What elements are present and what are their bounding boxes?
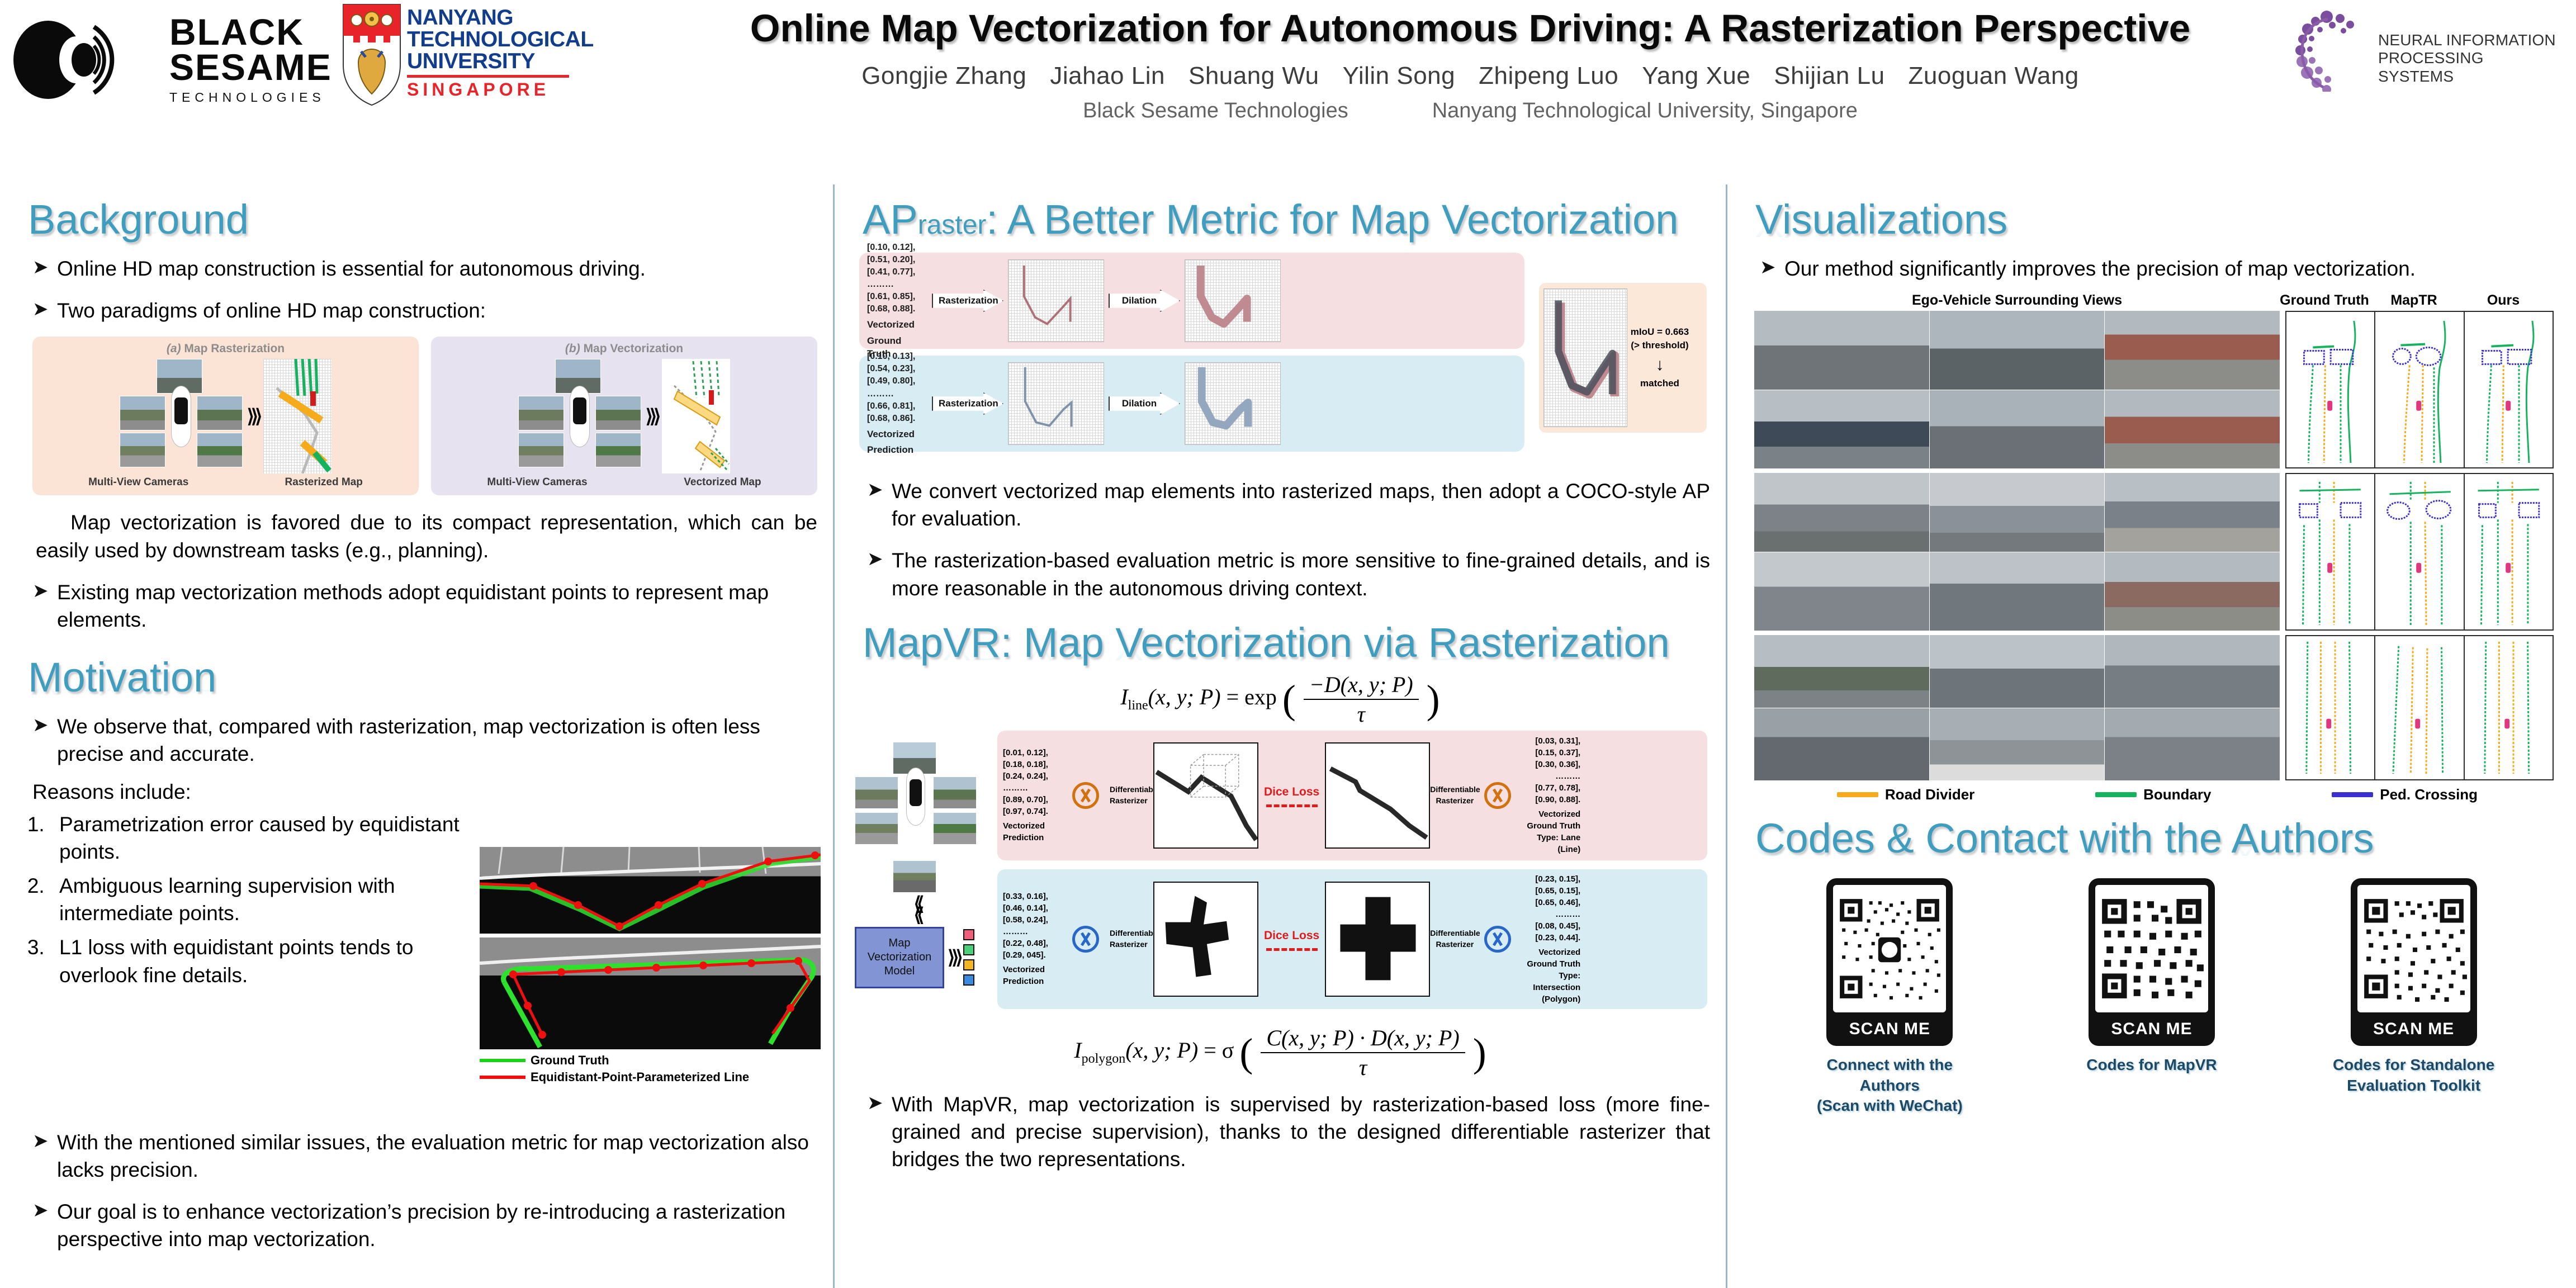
rasterizer-icon <box>1484 782 1511 809</box>
coord-line: [0.68, 0.86]. <box>867 413 927 425</box>
surrounding-views-grid <box>1754 473 2280 631</box>
arrow-bullet-icon: ➤ <box>32 1198 57 1253</box>
formula-line-lhs: I <box>1120 684 1128 709</box>
visualization-row <box>1754 635 2560 780</box>
qr-code-image[interactable] <box>1833 885 1946 1012</box>
poster-header: BLACK SESAME TECHNOLOGIES NANYANG TECHNO… <box>0 0 2576 168</box>
bsm-subtitle: TECHNOLOGIES <box>169 90 332 105</box>
chip-yellow <box>963 959 974 970</box>
ego-vehicle-icon <box>570 386 590 447</box>
neurips-wordmark: NEURAL INFORMATION PROCESSING SYSTEMS <box>2378 31 2561 86</box>
dilation-arrow-1: Dilation <box>1109 290 1180 312</box>
rasterization-arrow-1: Rasterization <box>932 290 1003 312</box>
gt-label-2: Ground Truth <box>1522 958 1580 970</box>
section-title-ap-raster: APraster: A Better Metric for Map Vector… <box>863 199 1710 240</box>
camera-thumb <box>197 396 243 430</box>
bullet-text: Two paradigms of online HD map construct… <box>57 297 817 324</box>
rasterizer-icon <box>1072 926 1099 953</box>
dice-loss-arrow <box>1266 948 1318 951</box>
camera-thumb-bottom <box>893 860 936 893</box>
neurips-logo: NEURAL INFORMATION PROCESSING SYSTEMS <box>2293 6 2561 95</box>
chip-blue <box>963 974 974 986</box>
author: Shijian Lu <box>1774 62 1884 89</box>
threshold-note: (> threshold) <box>1627 339 1692 353</box>
qr-code-image[interactable] <box>2095 885 2208 1012</box>
black-sesame-logo: BLACK SESAME TECHNOLOGIES <box>10 4 323 111</box>
down-arrow-icon: ↓ <box>1627 357 1692 372</box>
camera-view <box>1754 311 1929 390</box>
column-middle: APraster: A Better Metric for Map Vector… <box>833 184 1727 1288</box>
coord-line: [0.23, 0.44]. <box>1522 932 1580 944</box>
ntu-wordmark: NANYANG TECHNOLOGICAL UNIVERSITY SINGAPO… <box>407 7 594 100</box>
section-title-codes-contact: Codes & Contact with the Authors <box>1755 818 2560 859</box>
formula-poly-eq: = σ <box>1204 1038 1234 1063</box>
differentiable-rasterizer-right <box>1477 780 1518 811</box>
camera-view <box>1930 552 2105 631</box>
coord-line: [0.15, 0.37], <box>1522 747 1580 759</box>
matched-label: matched <box>1627 377 1692 391</box>
line-gt-render <box>1325 742 1430 849</box>
camera-view <box>2105 473 2280 552</box>
motivation-figure: Ground Truth Equidistant-Point-Parameter… <box>480 847 821 1085</box>
rasterization-arrow-2: Rasterization <box>932 392 1003 415</box>
camera-thumb <box>933 776 977 809</box>
coord-line: [0.46, 0.14], <box>1003 902 1062 914</box>
map-maptr <box>2375 474 2464 629</box>
qr-caption-line2: Evaluation Toolkit <box>2324 1076 2503 1096</box>
arrow-bullet-icon: ➤ <box>32 1129 57 1183</box>
paradigm-b-caption: (b) Map Vectorization <box>439 342 809 356</box>
column-left: Background ➤ Online HD map construction … <box>0 184 833 1288</box>
legend-item-road-divider: Road Divider <box>1837 786 1974 803</box>
pred-label-line1: Vectorized <box>867 428 927 441</box>
motivation-image-1 <box>480 847 821 934</box>
multiview-camera-cluster <box>120 359 243 473</box>
ap-gt-panel: [0.10, 0.12], [0.51, 0.20], [0.41, 0.77]… <box>859 253 1524 349</box>
mapvr-bullet-1: ➤ With MapVR, map vectorization is super… <box>867 1091 1710 1173</box>
ntu-line-2: TECHNOLOGICAL <box>407 29 594 50</box>
fraction-denominator: τ <box>1261 1053 1465 1081</box>
overlap-tile <box>1543 288 1627 427</box>
arrow-bullet-icon: ➤ <box>32 713 57 768</box>
arrow-bullet-icon: ➤ <box>867 477 892 532</box>
legend-label: Ped. Crossing <box>2380 786 2478 803</box>
map-maptr <box>2375 312 2464 467</box>
author: Yilin Song <box>1343 62 1456 89</box>
camera-view <box>1754 552 1929 631</box>
dice-loss-left: Dice Loss <box>1264 784 1319 807</box>
background-bullet-3: ➤ Existing map vectorization methods ado… <box>32 579 817 633</box>
affiliation-list: Black Sesame TechnologiesNanyang Technol… <box>660 99 2281 123</box>
qr-card[interactable]: SCAN ME <box>2089 878 2215 1046</box>
poster-body: Background ➤ Online HD map construction … <box>0 184 2576 1288</box>
mapvr-figure: ⟪⟪ Map Vectorization Model ⟩⟩⟩ [0.01, 0.… <box>855 731 1710 1021</box>
rasterizer-label-left-poly: Differentiable Rasterizer <box>1110 928 1153 950</box>
chip-pink <box>963 929 974 940</box>
paradigm-b-title: Map Vectorization <box>584 342 684 355</box>
map-ours <box>2465 636 2553 779</box>
legend-item-boundary: Boundary <box>2095 786 2211 803</box>
dice-loss-arrow <box>1266 804 1318 807</box>
arrow-bullet-icon: ➤ <box>32 297 57 324</box>
reasons-list: Parametrization error caused by equidist… <box>50 811 492 989</box>
coord-line: [0.24, 0.24], <box>1003 770 1062 782</box>
camera-view <box>1754 390 1929 469</box>
neurips-line-1: NEURAL INFORMATION <box>2378 31 2561 49</box>
poly-pred-coords: [0.33, 0.16], [0.46, 0.14], [0.58, 0.24]… <box>1003 891 1062 987</box>
map-comparison-row <box>2285 311 2554 468</box>
rasterizer-label-right: Differentiable Rasterizer <box>1430 784 1474 806</box>
qr-card[interactable]: SCAN ME <box>2351 878 2477 1046</box>
differentiable-rasterizer-right-poly <box>1477 924 1518 955</box>
paradigm-figure: (a) Map Rasterization ⟩⟩⟩ <box>32 337 817 495</box>
mapvr-line-panel: [0.01, 0.12], [0.18, 0.18], [0.24, 0.24]… <box>997 731 1707 860</box>
author-list: Gongjie ZhangJiahao LinShuang WuYilin So… <box>660 62 2281 90</box>
paren-close: ) <box>1427 677 1440 722</box>
bullet-text: Existing map vectorization methods adopt… <box>57 579 817 633</box>
camera-view <box>2105 635 2280 708</box>
neurips-line-2: PROCESSING SYSTEMS <box>2378 49 2561 86</box>
gt-coordinates: [0.10, 0.12], [0.51, 0.20], [0.41, 0.77]… <box>867 241 927 361</box>
pred-label-2: Prediction <box>1003 832 1062 844</box>
paradigm-a-label: (a) <box>167 342 181 355</box>
coord-line: [0.51, 0.20], <box>867 254 927 266</box>
camera-view <box>1754 708 1929 781</box>
gt-rasterized-tile <box>1008 259 1104 342</box>
vectorized-map-thumb <box>662 359 730 473</box>
fraction-numerator: −D(x, y; P) <box>1304 671 1419 700</box>
bullet-text: Our method significantly improves the pr… <box>1784 255 2560 282</box>
map-ours <box>2465 474 2553 629</box>
bullet-text: We convert vectorized map elements into … <box>892 477 1710 532</box>
list-item: L1 loss with equidistant points tends to… <box>50 934 492 988</box>
coord-line: [0.23, 0.15], <box>1522 873 1580 885</box>
paren-open: ( <box>1239 1030 1253 1075</box>
miou-value: mIoU = 0.663 <box>1627 325 1692 339</box>
header-ground-truth: Ground Truth <box>2280 292 2369 309</box>
camera-view <box>1754 635 1929 708</box>
coord-line: [0.89, 0.70], <box>1003 794 1062 806</box>
list-item: Parametrization error caused by equidist… <box>50 811 492 865</box>
dice-loss-poly: Dice Loss <box>1264 927 1319 951</box>
line-gt-coords: [0.03, 0.31], [0.15, 0.37], [0.30, 0.36]… <box>1522 735 1580 855</box>
coord-line: [0.01, 0.12], <box>1003 747 1062 759</box>
bullet-text: With MapVR, map vectorization is supervi… <box>892 1091 1710 1173</box>
bsm-line-1: BLACK <box>169 15 332 50</box>
legend-swatch-ground-truth <box>480 1059 525 1062</box>
coord-line: [0.08, 0.45], <box>1522 920 1580 932</box>
coord-line: [0.65, 0.15], <box>1522 885 1580 897</box>
legend-label: Boundary <box>2143 786 2211 803</box>
mapvr-polygon-panel: [0.33, 0.16], [0.46, 0.14], [0.58, 0.24]… <box>997 869 1707 1009</box>
camera-thumb <box>595 396 641 430</box>
chevron-right-icon: ⟩⟩⟩ <box>646 405 658 428</box>
coord-line: [0.22, 0.48], <box>1003 937 1062 949</box>
camera-thumb <box>197 433 243 467</box>
formula-poly-fraction: C(x, y; P) · D(x, y; P) τ <box>1261 1025 1465 1081</box>
motivation-bullet-3: ➤ Our goal is to enhance vectorization’s… <box>32 1198 817 1253</box>
formula-line-eq: = exp <box>1227 684 1277 709</box>
gt-label-1: Vectorized <box>1522 808 1580 820</box>
camera-thumb <box>595 433 641 467</box>
type-line: Type: Lane (Line) <box>1522 832 1580 855</box>
ap-pred-panel: [0.10, 0.13], [0.54, 0.23], [0.49, 0.80]… <box>859 356 1524 452</box>
camera-view <box>2105 311 2280 390</box>
paradigm-b-labels: Multi-View Cameras Vectorized Map <box>439 476 809 489</box>
title-block: Online Map Vectorization for Autonomous … <box>660 8 2281 123</box>
scan-me-label: SCAN ME <box>1833 1012 1946 1046</box>
coord-line: [0.61, 0.85], <box>867 291 927 303</box>
camera-view <box>1930 390 2105 469</box>
motivation-bullet-2: ➤ With the mentioned similar issues, the… <box>32 1129 817 1183</box>
background-bullet-2: ➤ Two paradigms of online HD map constru… <box>32 297 817 324</box>
coord-line: [0.77, 0.78], <box>1522 782 1580 794</box>
rasterizer-icon <box>1072 782 1099 809</box>
bullet-text: The rasterization-based evaluation metri… <box>892 547 1710 602</box>
qr-caption: Codes for Standalone Evaluation Toolkit <box>2324 1055 2503 1096</box>
cams-label: Multi-View Cameras <box>88 476 188 489</box>
class-color-chips <box>963 929 974 986</box>
differentiable-rasterizer-left <box>1065 780 1106 811</box>
type-polygon: Type: Intersection (Polygon) <box>1522 970 1580 1005</box>
dice-loss-label: Dice Loss <box>1264 785 1319 798</box>
qr-item-eval-toolkit[interactable]: SCAN ME Codes for Standalone Evaluation … <box>2324 878 2503 1116</box>
qr-caption-line1: Connect with the Authors <box>1800 1055 1979 1096</box>
black-sesame-mark-icon <box>10 18 161 102</box>
coord-line: [0.58, 0.24], <box>1003 914 1062 926</box>
out-label: Rasterized Map <box>285 476 363 489</box>
pred-label-line2: Prediction <box>867 443 927 456</box>
camera-view <box>2105 552 2280 631</box>
camera-thumb <box>855 776 898 809</box>
formula-line-fraction: −D(x, y; P) τ <box>1304 671 1419 727</box>
coord-line: [0.68, 0.88]. <box>867 303 927 315</box>
chevron-right-icon: ⟩⟩⟩ <box>948 946 960 969</box>
author: Zuoguan Wang <box>1909 62 2079 89</box>
rasterized-map-thumb <box>263 359 332 473</box>
camera-thumb <box>120 396 165 430</box>
mapvr-input-column: ⟪⟪ Map Vectorization Model ⟩⟩⟩ <box>855 742 983 988</box>
ntu-red-rule <box>407 75 569 78</box>
coord-line: [0.65, 0.46], <box>1522 897 1580 908</box>
legend-label: Road Divider <box>1885 786 1974 803</box>
paradigm-b-row: ⟩⟩⟩ <box>439 359 809 473</box>
formula-line: Iline(x, y; P) = exp ( −D(x, y; P) τ ) <box>850 671 1710 727</box>
bsm-line-2: SESAME <box>169 50 332 85</box>
arrow-bullet-icon: ➤ <box>32 255 57 282</box>
poly-pred-render <box>1153 882 1258 997</box>
bullet-text: With the mentioned similar issues, the e… <box>57 1129 817 1183</box>
paradigm-vectorization-panel: (b) Map Vectorization ⟩⟩⟩ <box>431 337 817 495</box>
visualization-legend: Road Divider Boundary Ped. Crossing <box>1777 786 2538 803</box>
legend-swatch-equidistant-line <box>480 1076 525 1079</box>
camera-view <box>2105 708 2280 781</box>
camera-thumb <box>518 433 564 467</box>
map-ours <box>2465 312 2553 467</box>
legend-swatch-boundary <box>2095 792 2137 797</box>
coord-line: [0.54, 0.23], <box>867 363 927 375</box>
section-title-background: Background <box>28 199 817 240</box>
poster-title: Online Map Vectorization for Autonomous … <box>660 8 2281 50</box>
pred-label-1: Vectorized <box>1003 964 1062 976</box>
poly-gt-render <box>1325 882 1430 997</box>
author: Yang Xue <box>1642 62 1750 89</box>
pred-label-2: Prediction <box>1003 976 1062 987</box>
ap-bullet-1: ➤ We convert vectorized map elements int… <box>867 477 1710 532</box>
surrounding-views-grid <box>1754 311 2280 468</box>
pred-dilated-tile <box>1185 362 1281 445</box>
coord-line: ……… <box>1003 782 1062 794</box>
visualization-column-headers: Ego-Vehicle Surrounding Views Ground Tru… <box>1754 292 2560 309</box>
camera-thumb <box>933 812 977 845</box>
differentiable-rasterizer-left-poly <box>1065 924 1106 955</box>
coord-line: [0.33, 0.16], <box>1003 891 1062 902</box>
ap-title-rest: : A Better Metric for Map Vectorization <box>986 196 1678 243</box>
background-bullet-1: ➤ Online HD map construction is essentia… <box>32 255 817 282</box>
camera-view <box>2105 390 2280 469</box>
formula-poly-subscript: polygon <box>1082 1052 1126 1066</box>
formula-line-args: (x, y; P) <box>1148 684 1221 709</box>
paradigm-a-row: ⟩⟩⟩ <box>40 359 411 473</box>
arrow-bullet-icon: ➤ <box>867 547 892 602</box>
coord-line: [0.10, 0.12], <box>867 241 927 254</box>
qr-caption-line2: (Scan with WeChat) <box>1800 1096 1979 1116</box>
ntu-logo: NANYANG TECHNOLOGICAL UNIVERSITY SINGAPO… <box>341 3 643 112</box>
affiliation: Nanyang Technological University, Singap… <box>1432 99 1858 122</box>
dilation-arrow-2: Dilation <box>1109 392 1180 415</box>
poly-gt-coords: [0.23, 0.15], [0.65, 0.15], [0.65, 0.46]… <box>1522 873 1580 1005</box>
legend-label: Equidistant-Point-Parameterized Line <box>531 1070 749 1085</box>
paradigm-a-labels: Multi-View Cameras Rasterized Map <box>40 476 411 489</box>
ntu-shield-icon <box>341 3 402 107</box>
coord-line: [0.66, 0.81], <box>867 400 927 413</box>
coord-line: ……… <box>1522 770 1580 782</box>
header-ego-views: Ego-Vehicle Surrounding Views <box>1754 292 2280 309</box>
qr-caption: Codes for MapVR <box>2062 1055 2241 1075</box>
ego-vehicle-icon <box>171 386 191 447</box>
section-title-motivation: Motivation <box>28 657 817 698</box>
bullet-text: Our goal is to enhance vectorization’s p… <box>57 1198 817 1253</box>
coord-line: [0.10, 0.13], <box>867 351 927 363</box>
map-ground-truth <box>2286 474 2375 629</box>
legend-item-ped-crossing: Ped. Crossing <box>2332 786 2478 803</box>
qr-item-wechat[interactable]: SCAN ME Connect with the Authors (Scan w… <box>1800 878 1979 1116</box>
legend-swatch-ped-crossing <box>2332 792 2373 797</box>
motivation-bullet-1: ➤ We observe that, compared with rasteri… <box>32 713 817 768</box>
camera-view <box>1930 473 2105 552</box>
map-maptr <box>2375 636 2464 779</box>
author: Gongjie Zhang <box>861 62 1026 89</box>
coord-line: [0.18, 0.18], <box>1003 759 1062 770</box>
motivation-image-2 <box>480 937 821 1049</box>
author: Jiahao Lin <box>1050 62 1165 89</box>
match-info: mIoU = 0.663 (> threshold) ↓ matched <box>1627 325 1692 391</box>
black-sesame-wordmark: BLACK SESAME TECHNOLOGIES <box>169 15 332 105</box>
legend-swatch-road-divider <box>1837 792 1878 797</box>
header-map-columns: Ground Truth MapTR Ours <box>2280 292 2548 309</box>
legend-label: Ground Truth <box>531 1053 609 1068</box>
paradigm-rasterization-panel: (a) Map Rasterization ⟩⟩⟩ <box>32 337 419 495</box>
camera-thumb <box>518 396 564 430</box>
rasterizer-label-left: Differentiable Rasterizer <box>1110 784 1153 806</box>
mapvr-camera-cluster <box>855 742 978 859</box>
scan-me-label: SCAN ME <box>2357 1012 2470 1046</box>
camera-view <box>1754 473 1929 552</box>
header-ours: Ours <box>2459 292 2548 309</box>
paradigm-a-caption: (a) Map Rasterization <box>40 342 411 356</box>
formula-poly-args: (x, y; P) <box>1125 1038 1198 1063</box>
cams-label: Multi-View Cameras <box>487 476 587 489</box>
coord-line: [0.90, 0.88]. <box>1522 794 1580 806</box>
chevron-right-icon: ⟩⟩⟩ <box>247 405 259 428</box>
gt-label-line1: Vectorized <box>867 318 927 331</box>
ap-match-panel: mIoU = 0.663 (> threshold) ↓ matched <box>1539 283 1707 433</box>
visualization-row <box>1754 311 2560 468</box>
qr-card[interactable]: SCAN ME <box>1826 878 1953 1046</box>
camera-thumb <box>120 433 165 467</box>
formula-poly-lhs: I <box>1074 1038 1081 1063</box>
rasterizer-label-right-poly: Differentiable Rasterizer <box>1430 928 1474 950</box>
visualizations-bullet-1: ➤ Our method significantly improves the … <box>1760 255 2560 282</box>
chip-green <box>963 944 974 955</box>
qr-caption: Connect with the Authors (Scan with WeCh… <box>1800 1055 1979 1116</box>
qr-caption-line1: Codes for MapVR <box>2062 1055 2241 1075</box>
visualization-row <box>1754 473 2560 631</box>
pred-label-1: Vectorized <box>1003 820 1062 832</box>
coord-line: ……… <box>1003 926 1062 937</box>
ntu-line-1: NANYANG <box>407 7 594 29</box>
ntu-country: SINGAPORE <box>407 79 594 100</box>
ap-bullet-2: ➤ The rasterization-based evaluation met… <box>867 547 1710 602</box>
bullet-text: Online HD map construction is essential … <box>57 255 817 282</box>
motivation-legend-item-2: Equidistant-Point-Parameterized Line <box>480 1070 821 1085</box>
qr-code-group: SCAN ME Connect with the Authors (Scan w… <box>1759 878 2545 1116</box>
background-paragraph: Map vectorization is favored due to its … <box>36 509 817 563</box>
pred-coordinates: [0.10, 0.13], [0.54, 0.23], [0.49, 0.80]… <box>867 351 927 456</box>
coord-line: ……… <box>867 278 927 291</box>
author: Shuang Wu <box>1188 62 1319 89</box>
qr-item-mapvr-codes[interactable]: SCAN ME Codes for MapVR <box>2062 878 2241 1116</box>
ap-raster-figure: [0.10, 0.12], [0.51, 0.20], [0.41, 0.77]… <box>859 253 1710 458</box>
arrow-bullet-icon: ➤ <box>1760 255 1784 282</box>
motivation-legend-item-1: Ground Truth <box>480 1053 821 1068</box>
out-label: Vectorized Map <box>684 476 761 489</box>
map-ground-truth <box>2286 636 2375 779</box>
arrow-bullet-icon: ➤ <box>32 579 57 633</box>
reasons-heading: Reasons include: <box>32 780 817 804</box>
ap-title-main: AP <box>863 196 918 243</box>
paren-close: ) <box>1473 1030 1486 1075</box>
coord-line: [0.97, 0.74]. <box>1003 806 1062 817</box>
qr-code-image[interactable] <box>2357 885 2470 1012</box>
coord-line: [0.03, 0.31], <box>1522 735 1580 747</box>
gt-label-2: Ground Truth <box>1522 820 1580 832</box>
paren-open: ( <box>1282 677 1296 722</box>
coord-line: [0.49, 0.80], <box>867 375 927 387</box>
paradigm-a-title: Map Rasterization <box>184 342 285 355</box>
line-pred-render <box>1153 742 1258 849</box>
coord-line: ……… <box>1522 908 1580 920</box>
camera-view <box>1930 311 2105 390</box>
surrounding-views-grid <box>1754 635 2280 780</box>
ap-title-subscript: raster <box>918 210 987 240</box>
camera-thumb <box>855 812 898 845</box>
qr-caption-line1: Codes for Standalone <box>2324 1055 2503 1075</box>
arrow-bullet-icon: ➤ <box>867 1091 892 1173</box>
multiview-camera-cluster <box>518 359 641 473</box>
neurips-swirl-icon <box>2293 8 2377 92</box>
formula-line-subscript: line <box>1128 698 1148 713</box>
